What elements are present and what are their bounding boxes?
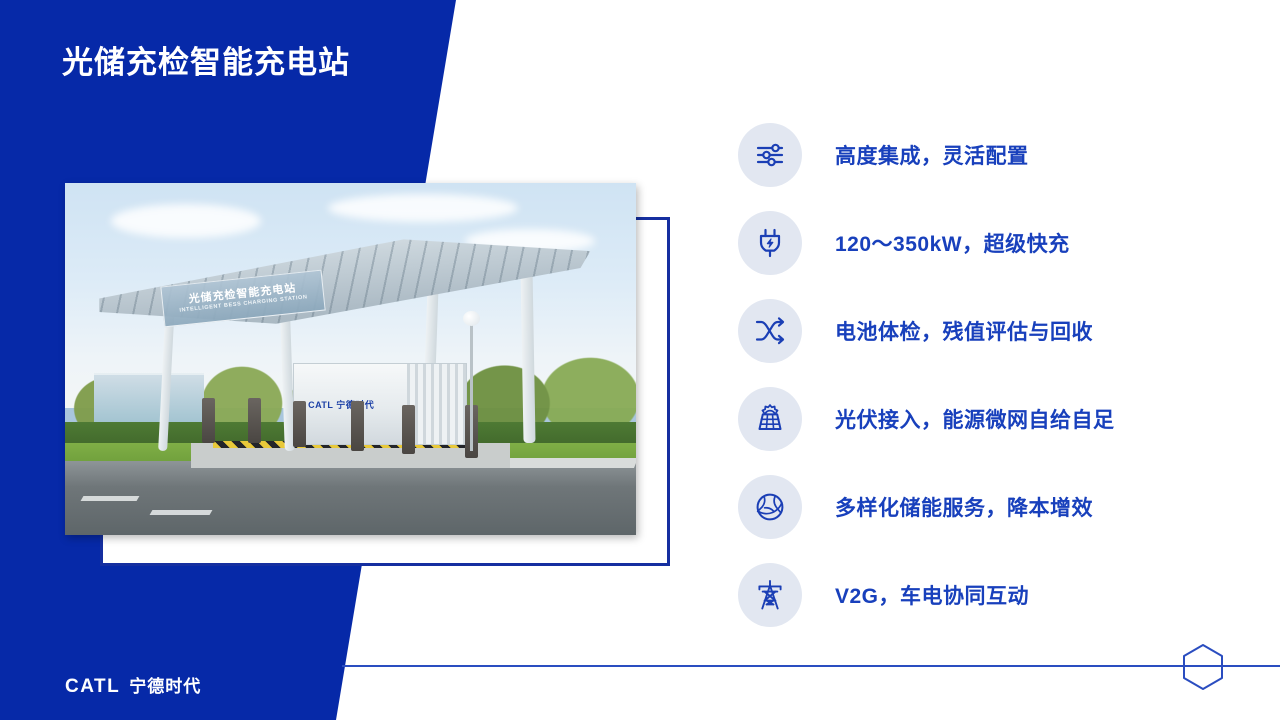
photo-street-lamp <box>470 324 473 451</box>
feature-list: 高度集成，灵活配置 120～350kW，超级快充 <box>738 120 1258 629</box>
feature-label: 多样化储能服务，降本增效 <box>835 492 1093 522</box>
brand-logo-latin: CATL <box>65 676 120 698</box>
photo-lane-marking <box>149 510 212 515</box>
feature-item-storage-services[interactable]: 多样化储能服务，降本增效 <box>738 472 1258 541</box>
photo-charging-pile <box>248 398 261 444</box>
plug-icon <box>738 211 802 275</box>
sliders-icon <box>738 123 802 187</box>
photo-lane-marking <box>81 496 140 501</box>
solar-panel-icon <box>738 387 802 451</box>
photo-cloud <box>111 204 261 238</box>
photo-bess-container: CATL 宁德时代 <box>293 363 466 446</box>
hexagon-accent-icon <box>1181 643 1225 691</box>
feature-label: 120～350kW，超级快充 <box>835 228 1070 258</box>
feature-item-photovoltaic[interactable]: 光伏接入，能源微网自给自足 <box>738 384 1258 453</box>
power-tower-icon <box>738 563 802 627</box>
photo-background-building <box>94 373 204 427</box>
photo-cloud <box>328 194 518 222</box>
feature-item-fast-charging[interactable]: 120～350kW，超级快充 <box>738 208 1258 277</box>
photo-container-logo: CATL 宁德时代 <box>308 398 374 411</box>
brand-logo-cn: 宁德时代 <box>129 672 201 697</box>
footer-divider-line <box>342 665 1280 667</box>
globe-network-icon <box>738 475 802 539</box>
shuffle-icon <box>738 299 802 363</box>
page-title: 光储充检智能充电站 <box>62 44 350 81</box>
feature-label: 光伏接入，能源微网自给自足 <box>835 404 1115 434</box>
photo-charging-pile <box>351 401 364 450</box>
slide-root: 光储充检智能充电站 CATL 宁德时代 <box>0 0 1280 720</box>
photo-charging-pile <box>402 405 415 454</box>
feature-item-integration[interactable]: 高度集成，灵活配置 <box>738 120 1258 189</box>
feature-item-v2g[interactable]: V2G，车电协同互动 <box>738 560 1258 629</box>
photo-container-vents <box>407 364 465 445</box>
station-photo: CATL 宁德时代 光储充检智能充电站 INTELLIGENT BESS CHA… <box>65 183 636 535</box>
photo-road <box>65 461 636 535</box>
feature-label: 电池体检，残值评估与回收 <box>835 316 1093 346</box>
feature-item-battery-check[interactable]: 电池体检，残值评估与回收 <box>738 296 1258 365</box>
feature-label: V2G，车电协同互动 <box>835 580 1029 610</box>
photo-charging-pile <box>293 401 306 447</box>
brand-logo: CATL 宁德时代 <box>65 672 201 698</box>
photo-charging-pile <box>202 398 215 444</box>
feature-label: 高度集成，灵活配置 <box>835 140 1029 170</box>
